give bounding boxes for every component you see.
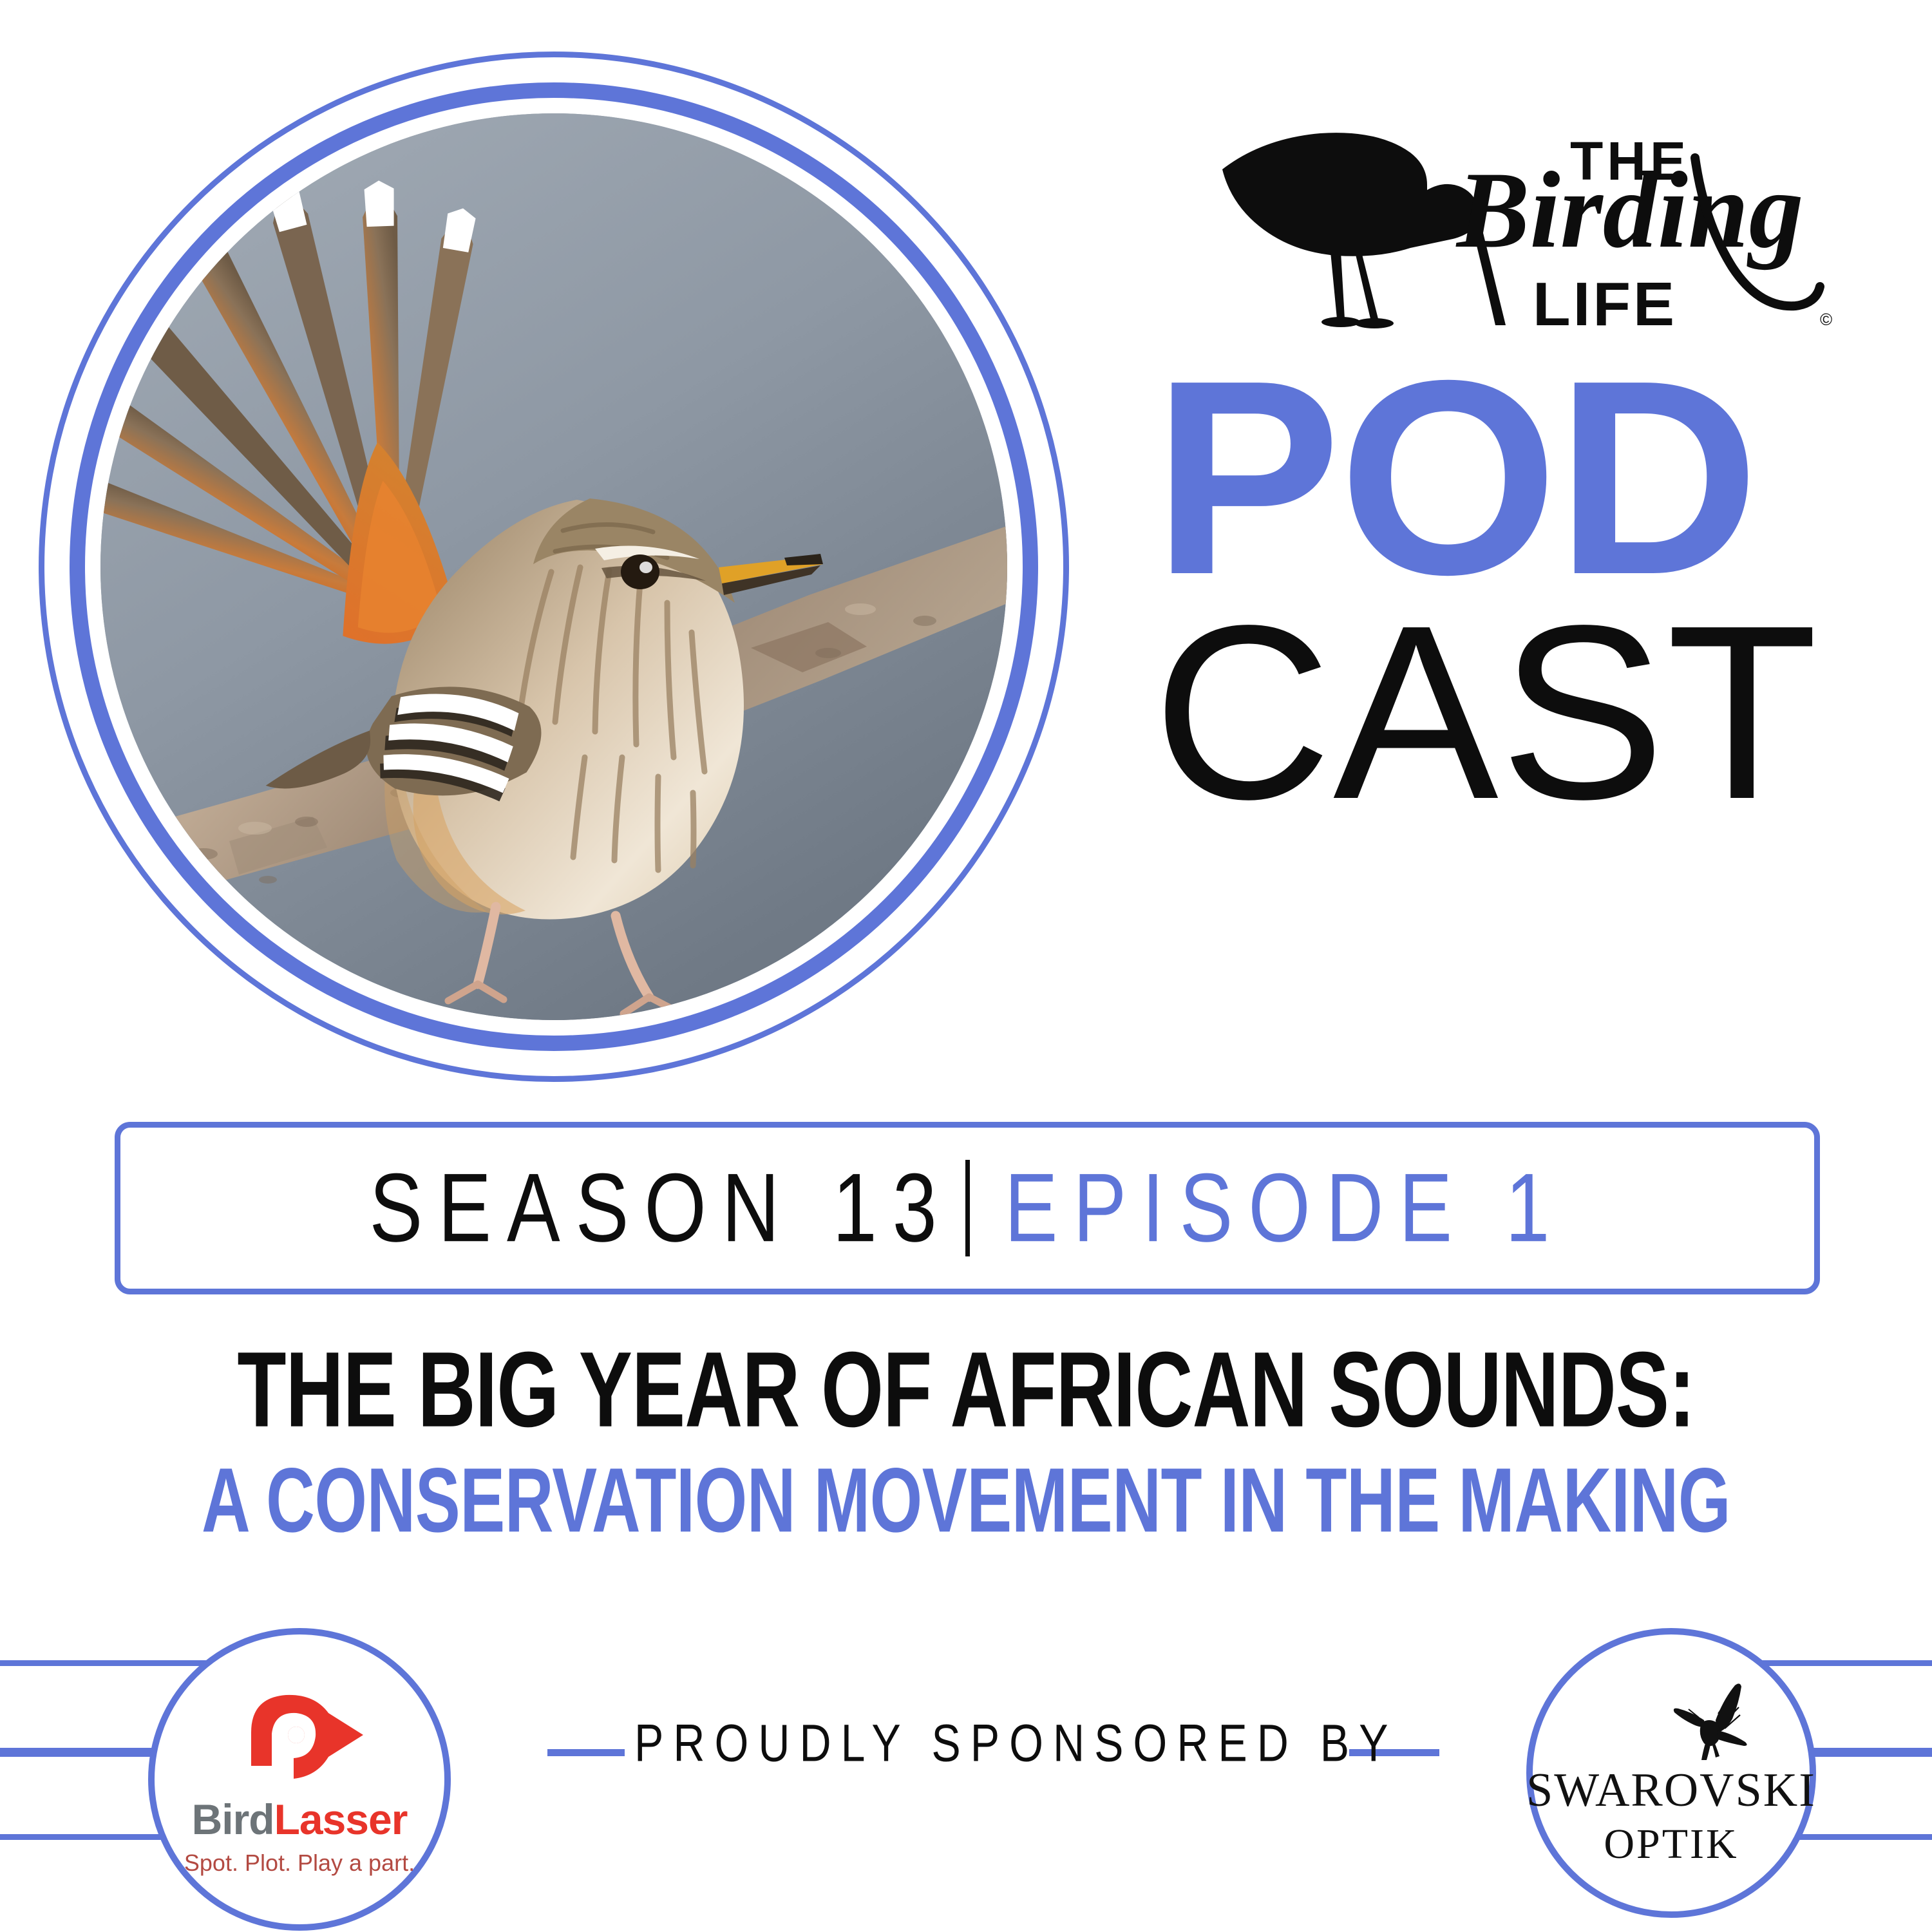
logo-copyright-mark: © xyxy=(1820,310,1832,329)
episode-label: EPISODE 1 xyxy=(1005,1152,1566,1264)
birdlasser-mark-icon xyxy=(232,1682,367,1792)
banner-divider xyxy=(965,1160,970,1256)
sponsored-by-label: PROUDLY SPONSORED BY xyxy=(634,1713,1343,1774)
footer-rule-left-top xyxy=(0,1660,219,1666)
episode-title-block: THE BIG YEAR OF AFRICAN SOUNDS: A CONSER… xyxy=(0,1349,1932,1535)
episode-subtitle: A CONSERVATION MOVEMENT IN THE MAKING xyxy=(10,1455,1922,1546)
season-label: SEASON 13 xyxy=(370,1152,952,1264)
footer-rule-center-left xyxy=(547,1749,625,1756)
bird-photograph xyxy=(100,113,1007,1020)
birdlasser-tagline: Spot. Plot. Play a part. xyxy=(184,1850,415,1877)
podcast-wordmark: POD CAST xyxy=(1153,351,1880,1027)
birdlasser-word-bird: Bird xyxy=(192,1795,274,1843)
season-episode-banner: SEASON 13 EPISODE 1 xyxy=(115,1122,1820,1294)
podcast-word-pod: POD xyxy=(1153,351,1895,606)
swarovski-wordmark: SWAROVSKI xyxy=(1526,1766,1816,1814)
swarovski-optik-label: OPTIK xyxy=(1604,1823,1738,1866)
sponsor-swarovski-optik[interactable]: SWAROVSKI OPTIK xyxy=(1526,1628,1816,1918)
episode-title: THE BIG YEAR OF AFRICAN SOUNDS: xyxy=(10,1336,1922,1443)
birdlasser-wordmark: BirdLasser xyxy=(192,1798,408,1841)
birdlasser-word-lasser: Lasser xyxy=(274,1795,408,1843)
podcast-cover-art: THE Birding LIFE © POD CAST SEASON 13 EP… xyxy=(0,0,1932,1932)
logo-word-birding: Birding xyxy=(1455,149,1804,270)
hawk-icon xyxy=(1662,1680,1758,1764)
the-birding-life-logo: THE Birding LIFE © xyxy=(1217,113,1874,345)
sponsor-birdlasser[interactable]: BirdLasser Spot. Plot. Play a part. xyxy=(148,1628,451,1931)
cover-photo-frame xyxy=(39,52,1069,1082)
